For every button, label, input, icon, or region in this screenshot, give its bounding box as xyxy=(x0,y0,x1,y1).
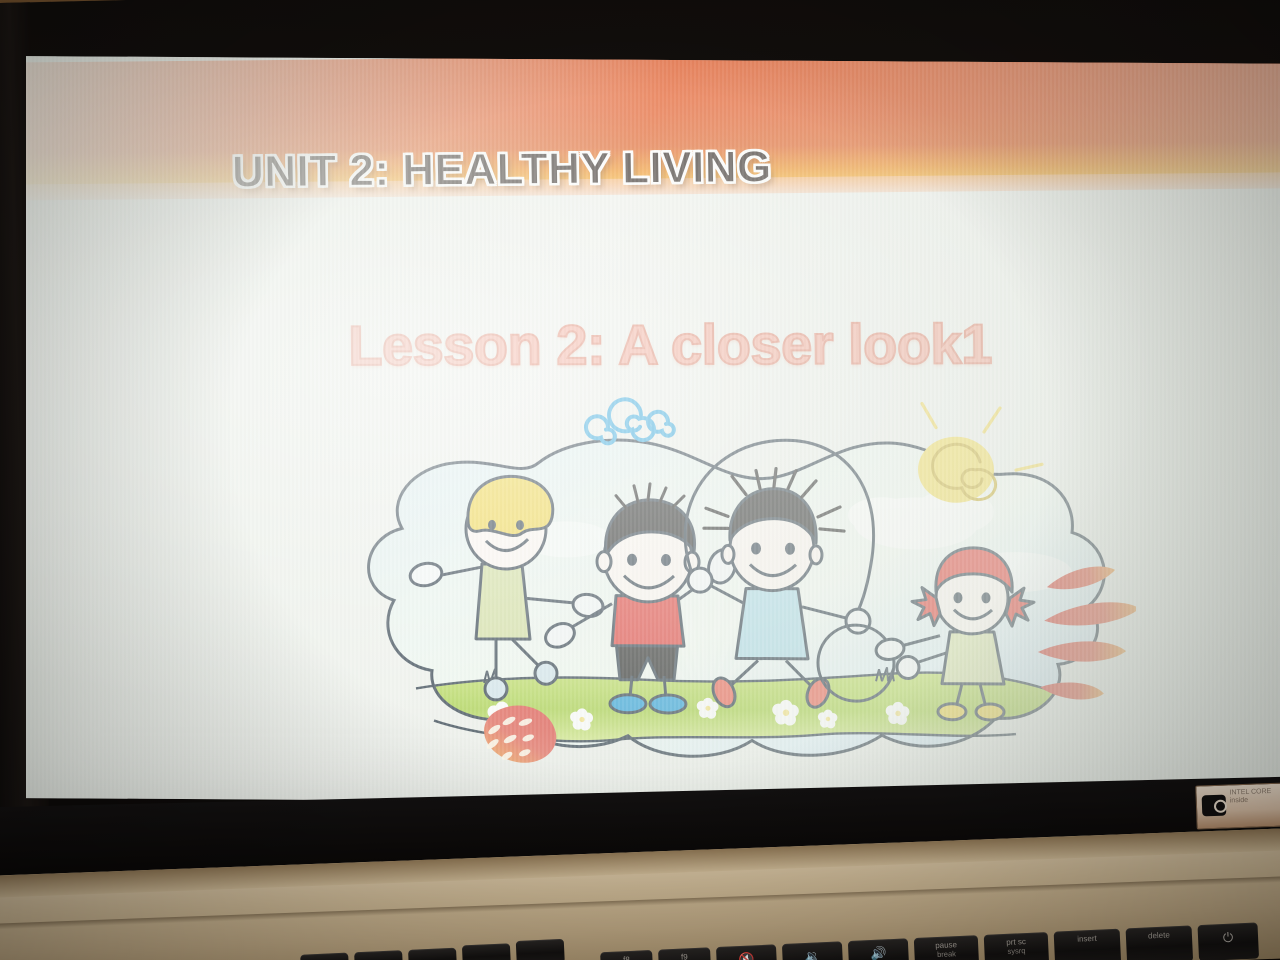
key-volume-up-icon[interactable]: 🔊 xyxy=(848,938,910,960)
lesson-title: Lesson 2: A closer look1 xyxy=(26,310,1280,378)
children-playing-illustration xyxy=(316,388,1136,793)
key-f5[interactable] xyxy=(300,953,349,960)
laptop-screen[interactable]: UNIT 2: HEALTHY LIVING Lesson 2: A close… xyxy=(26,56,1280,806)
page-title: UNIT 2: HEALTHY LIVING xyxy=(232,142,773,197)
key-volume-down-icon[interactable]: 🔉 xyxy=(782,941,844,960)
oem-badge-line2: inside xyxy=(1230,796,1280,806)
key-sublabel: sysrq xyxy=(984,945,1048,957)
key-mute-icon[interactable]: 🔇 xyxy=(716,944,778,960)
key-pause-break[interactable]: pause break xyxy=(914,935,980,960)
key-label: f9 xyxy=(681,952,688,960)
oem-badge-text: INTEL CORE inside xyxy=(1229,788,1280,806)
oem-logo-icon xyxy=(1202,795,1227,817)
key-f9-left[interactable] xyxy=(516,939,565,960)
key-insert[interactable]: insert xyxy=(1054,929,1122,960)
key-f8[interactable]: f8 xyxy=(600,950,654,960)
key-label: insert xyxy=(1077,934,1097,944)
key-f7[interactable] xyxy=(408,948,457,960)
key-f8-left[interactable] xyxy=(462,943,511,960)
key-f6[interactable] xyxy=(354,950,403,960)
wind-swirl-icon xyxy=(586,399,674,444)
key-delete[interactable]: delete xyxy=(1126,925,1194,960)
key-print-screen[interactable]: prt sc sysrq xyxy=(984,932,1050,960)
oem-badge-sticker: INTEL CORE inside xyxy=(1195,782,1280,829)
key-label: f8 xyxy=(623,955,630,960)
key-label: delete xyxy=(1148,930,1170,940)
screenshot-stage: UNIT 2: HEALTHY LIVING Lesson 2: A close… xyxy=(0,0,1280,960)
power-button[interactable]: ⏻ xyxy=(1197,922,1259,960)
key-sublabel: break xyxy=(914,948,978,960)
power-icon: ⏻ xyxy=(1223,930,1234,945)
key-f9[interactable]: f9 xyxy=(658,947,712,960)
